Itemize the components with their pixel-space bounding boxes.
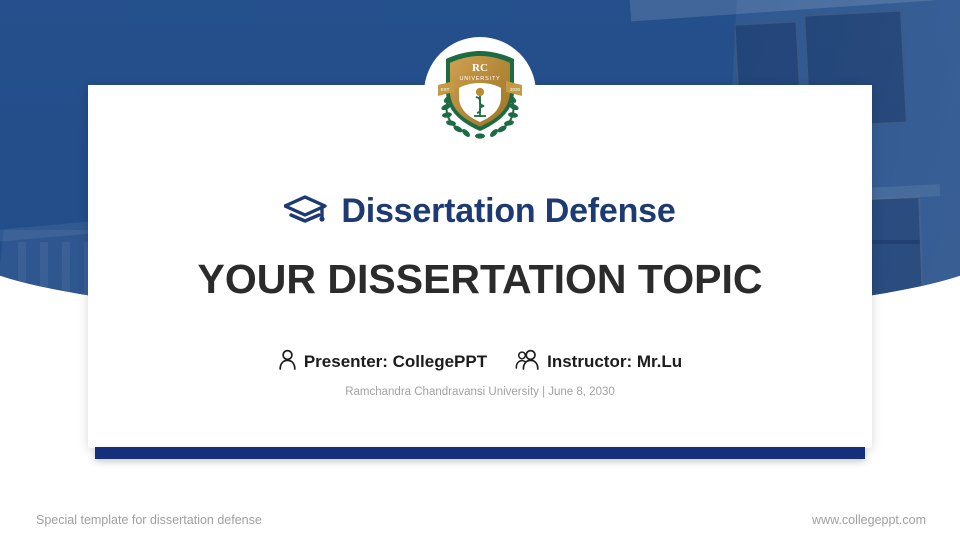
footer-left-text: Special template for dissertation defens… — [36, 513, 262, 527]
footer-right-link[interactable]: www.collegeppt.com — [812, 513, 926, 527]
presentation-slide: RC UNIVERSITY EST 2030 — [0, 0, 960, 540]
presenter-label: Presenter: CollegePPT — [304, 352, 487, 372]
instructor-label: Instructor: Mr.Lu — [547, 352, 682, 372]
people-row: Presenter: CollegePPT Instructor: Mr.Lu — [0, 349, 960, 375]
crest-ribbon-left: EST — [441, 87, 450, 92]
page-title: YOUR DISSERTATION TOPIC — [0, 256, 960, 303]
brand-title: Dissertation Defense — [341, 192, 675, 231]
crest-band-text: UNIVERSITY — [459, 76, 500, 82]
person-icon — [278, 349, 297, 375]
card-accent-bar — [95, 447, 865, 459]
crest-ribbon-right: 2030 — [510, 87, 521, 92]
instructor-block: Instructor: Mr.Lu — [515, 349, 682, 375]
brand-row: Dissertation Defense — [0, 192, 960, 231]
university-crest-icon: RC UNIVERSITY EST 2030 — [424, 37, 536, 149]
people-icon — [515, 349, 540, 375]
presenter-block: Presenter: CollegePPT — [278, 349, 487, 375]
crest-monogram: RC — [472, 62, 488, 74]
meta-line: Ramchandra Chandravansi University | Jun… — [0, 386, 960, 398]
graduation-cap-icon — [284, 195, 328, 229]
